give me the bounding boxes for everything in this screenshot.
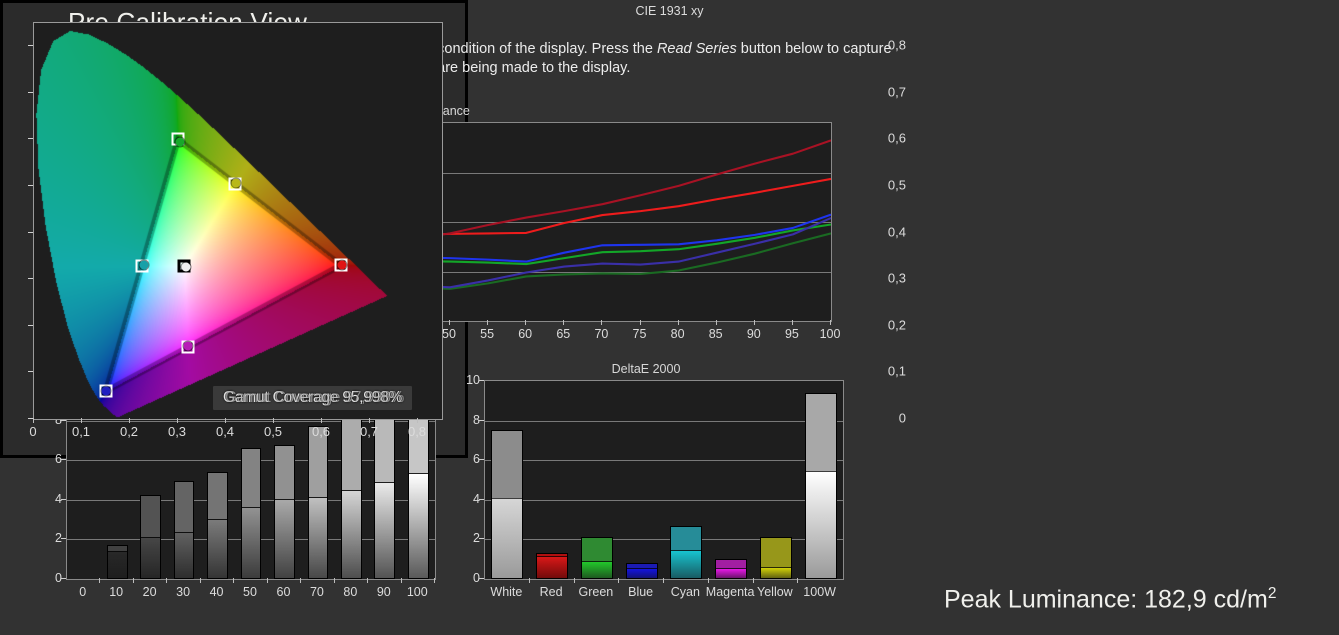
cie-measured-point-red [337, 261, 346, 270]
de-color-ytick-6: 6 [450, 452, 480, 466]
rgb-xtick-75: 75 [633, 327, 647, 341]
de-color-bar-cyan [670, 526, 702, 579]
rgb-xtick-95: 95 [785, 327, 799, 341]
de-gray-bar-50 [241, 448, 262, 579]
de-color-xtick-yellow: Yellow [757, 585, 793, 599]
cie-1931-title: CIE 1931 xy [0, 4, 1339, 18]
bar-segment-lower [761, 567, 791, 578]
bar-segment-lower [492, 498, 522, 578]
de-gray-bar-80 [341, 417, 362, 579]
cie-ytick-6: 0,2 [876, 317, 906, 332]
de-gray-ytick-2: 2 [30, 531, 62, 545]
rgb-xtick-100: 100 [820, 327, 841, 341]
de-color-bar-100w [805, 393, 837, 579]
cie-measured-point-green [175, 138, 184, 147]
cie-ytick-2: 0,6 [876, 131, 906, 146]
cie-xtick-5: 0,5 [264, 424, 282, 439]
de-color-bar-blue [626, 563, 658, 579]
peak-luminance-exponent: 2 [1268, 585, 1277, 602]
de-color-xtick-cyan: Cyan [671, 585, 700, 599]
de-color-bar-yellow [760, 537, 792, 579]
bar-segment-lower [275, 499, 294, 578]
gamut-coverage-ghost: Gamut Coverage 97,998% [225, 389, 404, 407]
cie-xtick-3: 0,3 [168, 424, 186, 439]
cie-xtick-0: 0 [29, 424, 36, 439]
cie-measured-point-cyan [139, 260, 148, 269]
cie-ytick-8: 0 [876, 411, 906, 426]
de-color-xtick-red: Red [540, 585, 563, 599]
de-color-ytick-10: 10 [450, 373, 480, 387]
de-color-xtick-magenta: Magenta [706, 585, 755, 599]
rgb-xtick-80: 80 [671, 327, 685, 341]
cie-xtick-4: 0,4 [216, 424, 234, 439]
de-gray-xtick-30: 30 [176, 585, 190, 599]
de-color-ytick-4: 4 [450, 492, 480, 506]
de-gray-ytick-6: 6 [30, 452, 62, 466]
de-color-ytick-2: 2 [450, 531, 480, 545]
de-gray-xtick-0: 0 [79, 585, 86, 599]
bar-segment-lower [342, 490, 361, 578]
bar-segment-lower [141, 537, 160, 578]
de-gray-xtick-100: 100 [407, 585, 428, 599]
peak-luminance: Peak Luminance: 182,9 cd/m2 [944, 585, 1276, 614]
pre-calibration-view: Pre Calibration View Goal: Pre-calibrati… [0, 0, 1339, 635]
de-gray-bar-10 [107, 545, 128, 579]
de-gray-ytick-4: 4 [30, 492, 62, 506]
gamut-coverage-badge: Gamut Coverage 97,998% Gamut Coverage 95… [213, 386, 412, 410]
cie-measured-point-white [181, 262, 190, 271]
bar-segment-lower [242, 507, 261, 578]
bar-segment-lower [806, 471, 836, 578]
cie-xtick-1: 0,1 [72, 424, 90, 439]
bar-segment-lower [208, 519, 227, 578]
de-gray-xtick-10: 10 [109, 585, 123, 599]
bar-segment-lower [309, 497, 328, 578]
bar-segment-lower [108, 551, 127, 578]
deltae-colors-plot-area [484, 380, 844, 580]
deltae-colors-chart: DeltaE 2000 1086420WhiteRedGreenBlueCyan… [446, 362, 846, 620]
de-color-bar-magenta [715, 559, 747, 579]
cie-xtick-6: 0,6 [312, 424, 330, 439]
cie-gamut-canvas [34, 23, 443, 420]
de-gray-xtick-90: 90 [377, 585, 391, 599]
rgb-xtick-60: 60 [518, 327, 532, 341]
cie-measured-point-yellow [231, 179, 240, 188]
bar-segment-lower [627, 568, 657, 578]
de-gray-xtick-50: 50 [243, 585, 257, 599]
rgb-xtick-50: 50 [442, 327, 456, 341]
bar-segment-lower [409, 473, 428, 578]
rgb-xtick-55: 55 [480, 327, 494, 341]
de-color-ytick-8: 8 [450, 413, 480, 427]
bar-segment-lower [375, 482, 394, 578]
cie-xtick-8: 0,8 [408, 424, 426, 439]
cie-measured-point-blue [102, 387, 111, 396]
rgb-xtick-85: 85 [709, 327, 723, 341]
de-gray-bar-30 [174, 481, 195, 579]
cie-measured-point-magenta [184, 341, 193, 350]
de-gray-xtick-40: 40 [210, 585, 224, 599]
de-gray-xtick-80: 80 [343, 585, 357, 599]
de-gray-bar-60 [274, 445, 295, 579]
cie-ytick-4: 0,4 [876, 224, 906, 239]
cie-ytick-1: 0,7 [876, 84, 906, 99]
de-gray-bar-40 [207, 472, 228, 579]
cie-xtick-7: 0,7 [360, 424, 378, 439]
de-gray-xtick-70: 70 [310, 585, 324, 599]
bar-segment-lower [716, 568, 746, 578]
de-gray-bar-100 [408, 393, 429, 579]
de-gray-xtick-20: 20 [143, 585, 157, 599]
de-color-xtick-white: White [490, 585, 522, 599]
deltae-colors-title: DeltaE 2000 [446, 362, 846, 376]
de-color-ytick-0: 0 [450, 571, 480, 585]
cie-ytick-0: 0,8 [876, 38, 906, 53]
rgb-xtick-90: 90 [747, 327, 761, 341]
de-gray-xtick-60: 60 [277, 585, 291, 599]
de-gray-ytick-0: 0 [30, 571, 62, 585]
cie-ytick-5: 0,3 [876, 271, 906, 286]
bar-segment-lower [582, 561, 612, 578]
de-color-bar-white [491, 430, 523, 579]
cie-xtick-2: 0,2 [120, 424, 138, 439]
peak-luminance-label: Peak Luminance: 182,9 cd/m [944, 585, 1268, 613]
de-gray-bar-70 [308, 426, 329, 579]
de-color-xtick-green: Green [579, 585, 614, 599]
cie-1931-plot-area [33, 22, 443, 420]
de-color-bar-red [536, 553, 568, 579]
bar-segment-lower [671, 550, 701, 578]
de-color-bar-green [581, 537, 613, 579]
cie-ytick-3: 0,5 [876, 178, 906, 193]
bar-segment-lower [537, 556, 567, 578]
rgb-xtick-65: 65 [556, 327, 570, 341]
bar-segment-lower [175, 532, 194, 578]
de-color-xtick-100w: 100W [803, 585, 836, 599]
rgb-xtick-70: 70 [594, 327, 608, 341]
de-gray-bar-20 [140, 495, 161, 579]
cie-ytick-7: 0,1 [876, 364, 906, 379]
goal-italic-read-series: Read Series [657, 41, 737, 57]
cie-1931-chart: CIE 1931 xy Gamut Coverage 97,998% Gamut… [0, 0, 468, 458]
de-color-xtick-blue: Blue [628, 585, 653, 599]
